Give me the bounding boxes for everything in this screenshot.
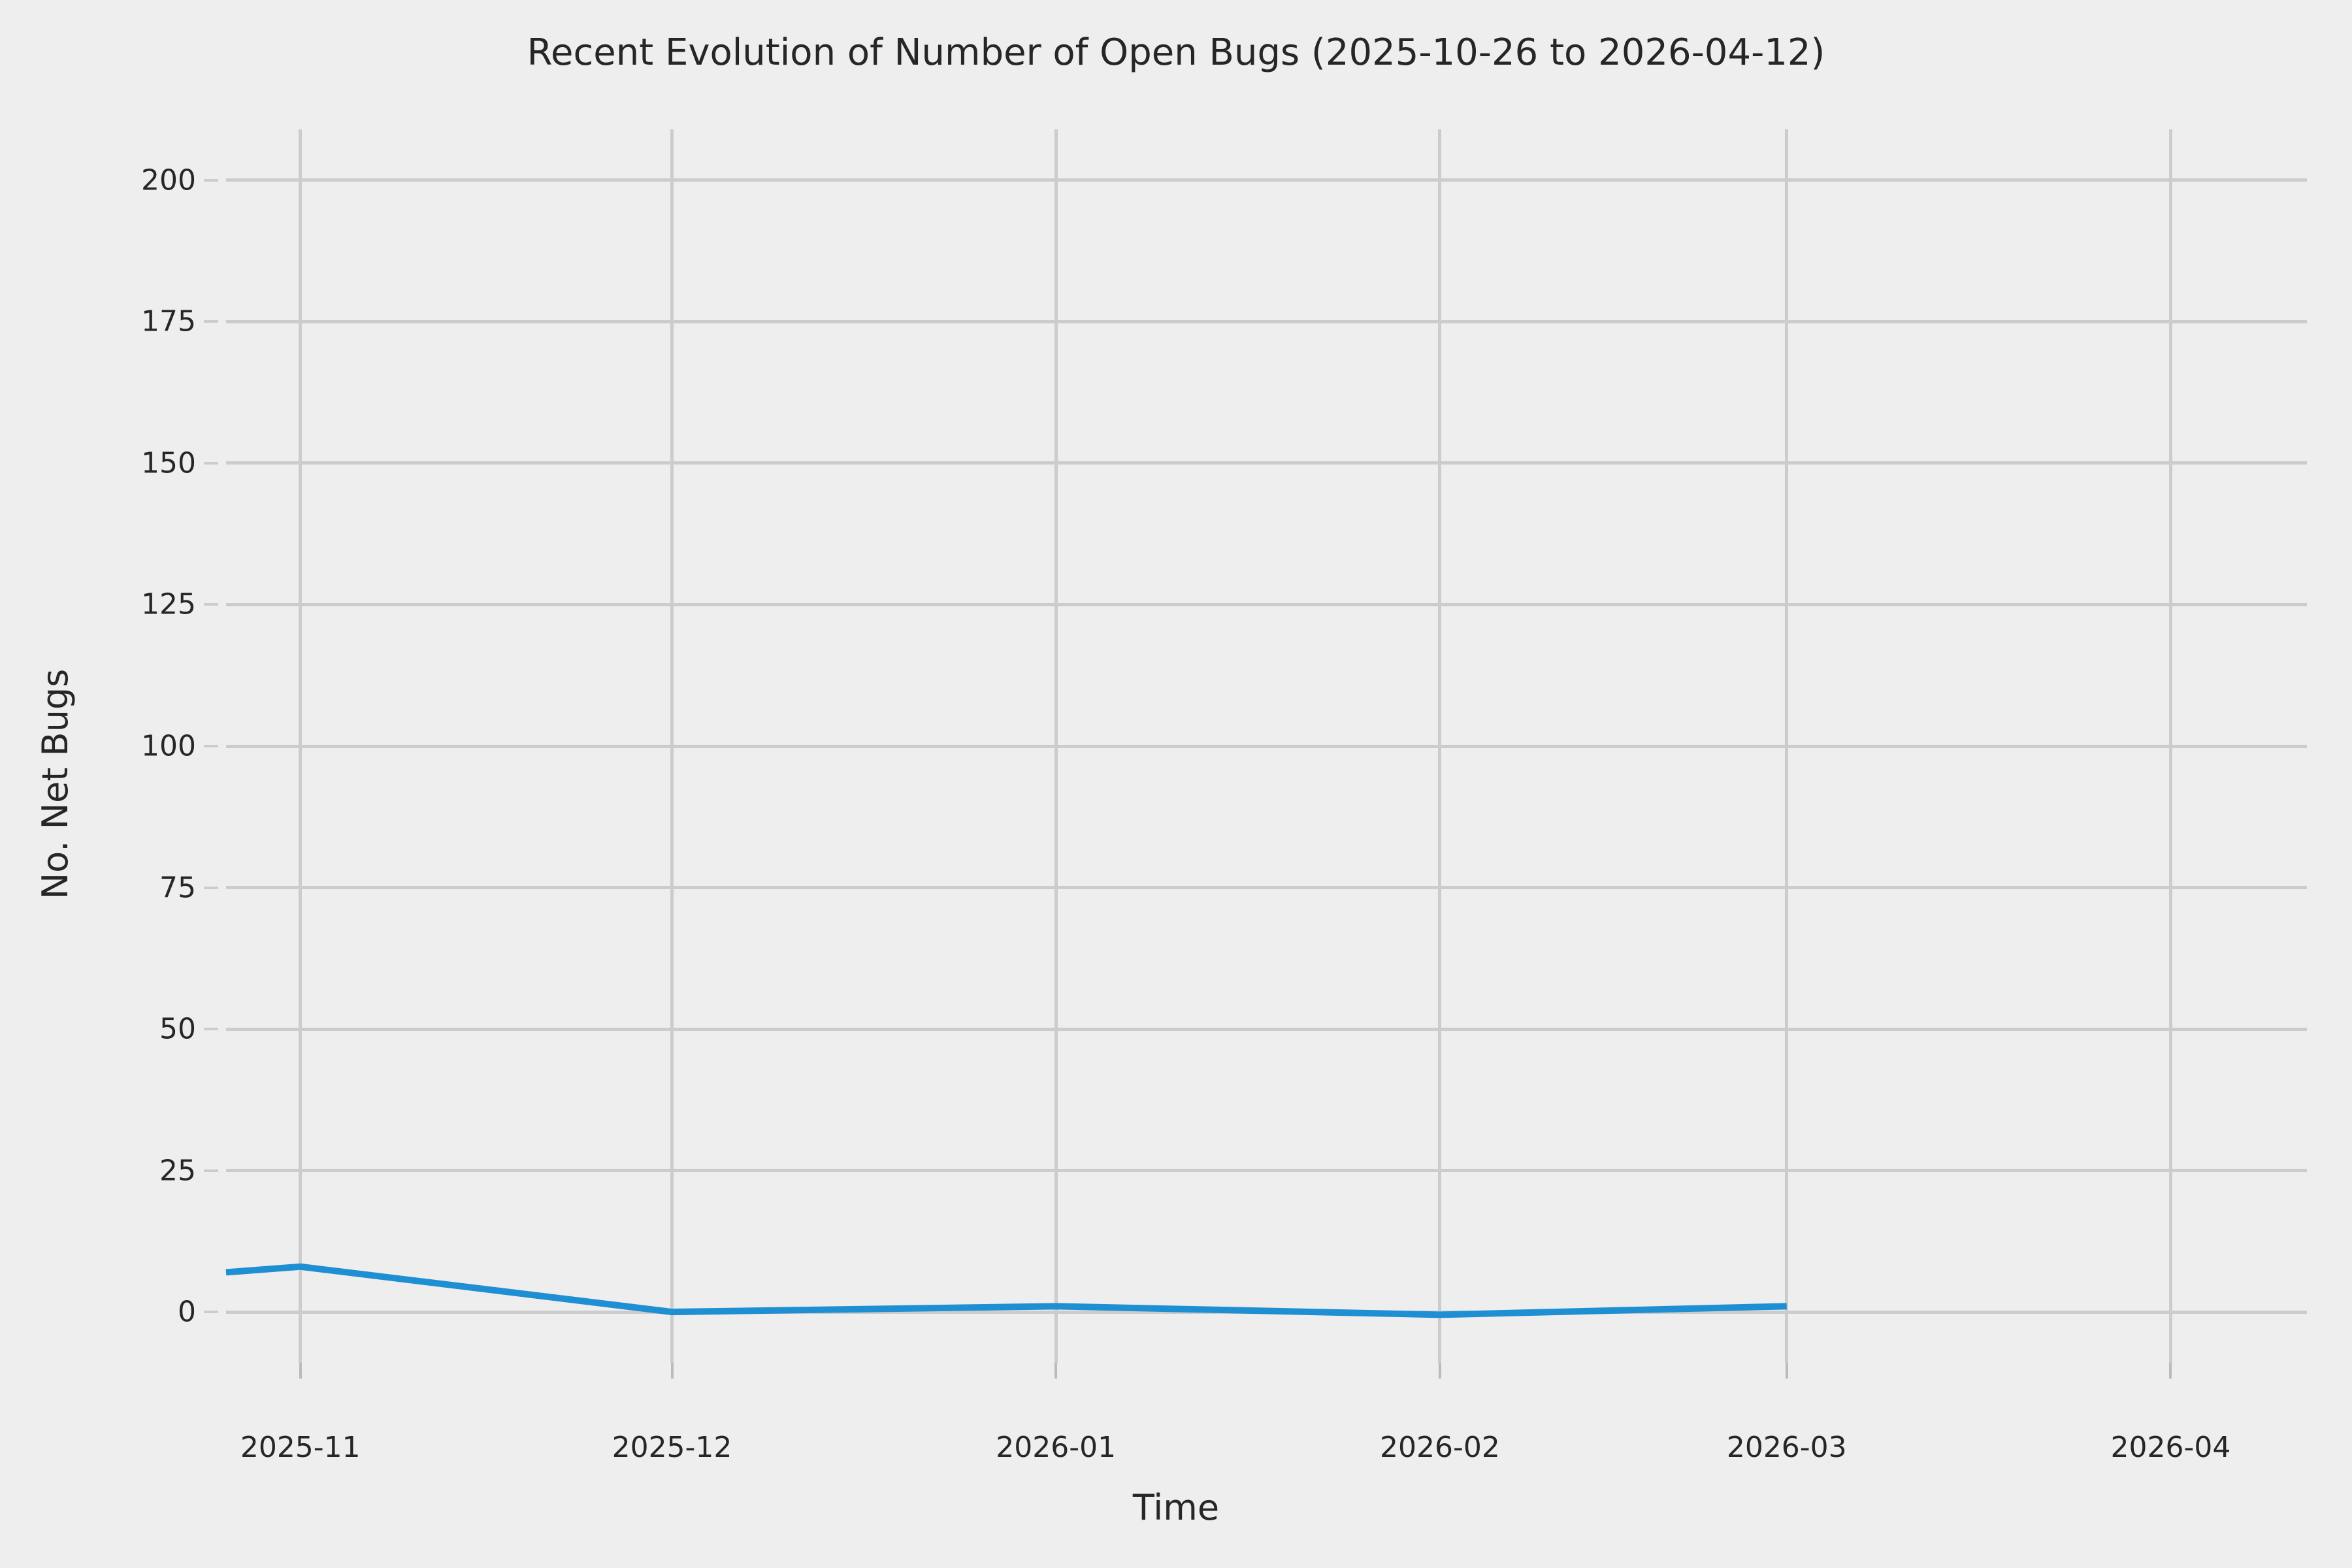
plot-area xyxy=(226,129,2307,1363)
y-axis-tick-mark xyxy=(204,1311,218,1313)
y-axis-tick-mark xyxy=(204,462,218,465)
y-axis-tick-mark xyxy=(204,320,218,323)
y-axis-label: No. Net Bugs xyxy=(20,0,91,1568)
x-axis-tick-mark xyxy=(2169,1363,2172,1379)
y-axis-tick-mark xyxy=(204,1169,218,1172)
x-axis-label: Time xyxy=(0,1487,2352,1528)
x-axis-tick-label: 2025-11 xyxy=(170,1431,431,1464)
x-axis-tick-label: 2025-12 xyxy=(542,1431,803,1464)
y-axis-tick-mark xyxy=(204,179,218,182)
x-axis-tick-mark xyxy=(1054,1363,1057,1379)
x-axis-tick-label: 2026-03 xyxy=(1656,1431,1918,1464)
x-axis-tick-mark xyxy=(299,1363,302,1379)
x-axis-tick-label: 2026-04 xyxy=(2040,1431,2301,1464)
series-line-chart xyxy=(226,129,2307,1363)
chart-title: Recent Evolution of Number of Open Bugs … xyxy=(0,31,2352,74)
x-axis-tick-mark xyxy=(1786,1363,1788,1379)
x-axis-tick-label: 2026-02 xyxy=(1309,1431,1571,1464)
y-axis-tick-mark xyxy=(204,887,218,889)
x-axis-tick-label: 2026-01 xyxy=(925,1431,1186,1464)
y-axis-tick-mark xyxy=(204,745,218,747)
x-axis-tick-mark xyxy=(671,1363,674,1379)
y-axis-tick-mark xyxy=(204,603,218,606)
series-line-net-bugs xyxy=(226,1267,1787,1315)
x-axis-tick-mark xyxy=(1439,1363,1441,1379)
y-axis-tick-mark xyxy=(204,1028,218,1030)
chart-figure: Recent Evolution of Number of Open Bugs … xyxy=(0,0,2352,1568)
